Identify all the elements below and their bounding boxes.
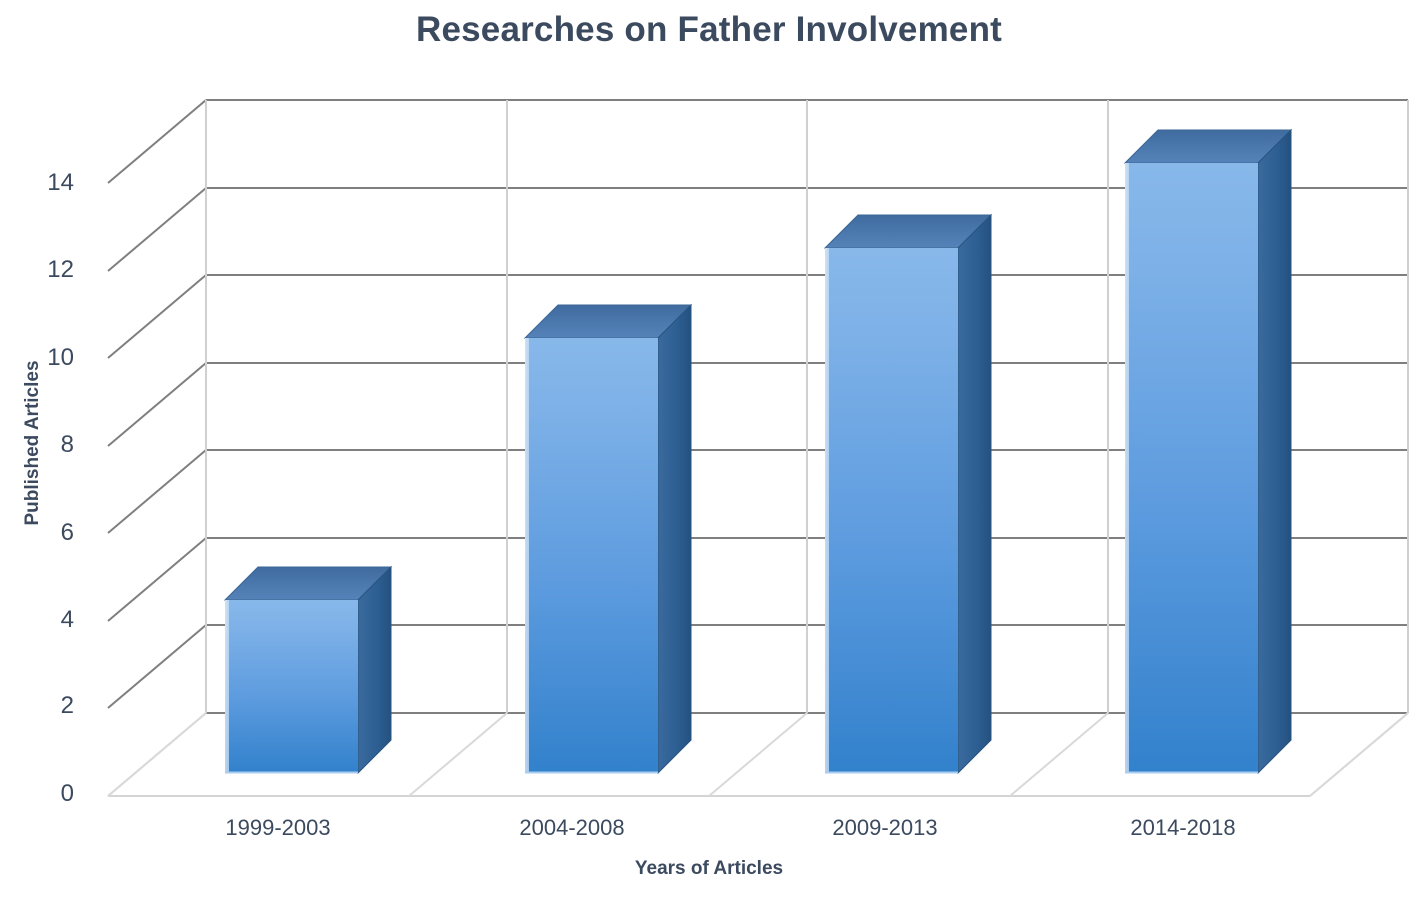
bar-2014-2018[interactable] bbox=[1125, 130, 1291, 773]
bar-side-face bbox=[1258, 130, 1291, 773]
bar-front-left-highlight bbox=[825, 248, 829, 773]
bar-1999-2003[interactable] bbox=[225, 567, 391, 773]
bar-front-left-highlight bbox=[525, 338, 529, 773]
bar-side-face bbox=[658, 305, 691, 773]
bar-front-left-highlight bbox=[1125, 163, 1129, 773]
chart-container: Researches on Father Involvement Publish… bbox=[0, 0, 1418, 905]
plot-area bbox=[0, 0, 1418, 905]
bar-2009-2013[interactable] bbox=[825, 215, 991, 773]
bar-front-face bbox=[225, 600, 358, 773]
bar-front-face bbox=[525, 338, 658, 773]
bar-2004-2008[interactable] bbox=[525, 305, 691, 773]
bar-side-face bbox=[358, 567, 391, 773]
axis-depth-lines bbox=[108, 100, 206, 708]
bar-side-face bbox=[958, 215, 991, 773]
bar-front-left-highlight bbox=[225, 600, 229, 773]
bar-front-face bbox=[825, 248, 958, 773]
bar-front-face bbox=[1125, 163, 1258, 773]
